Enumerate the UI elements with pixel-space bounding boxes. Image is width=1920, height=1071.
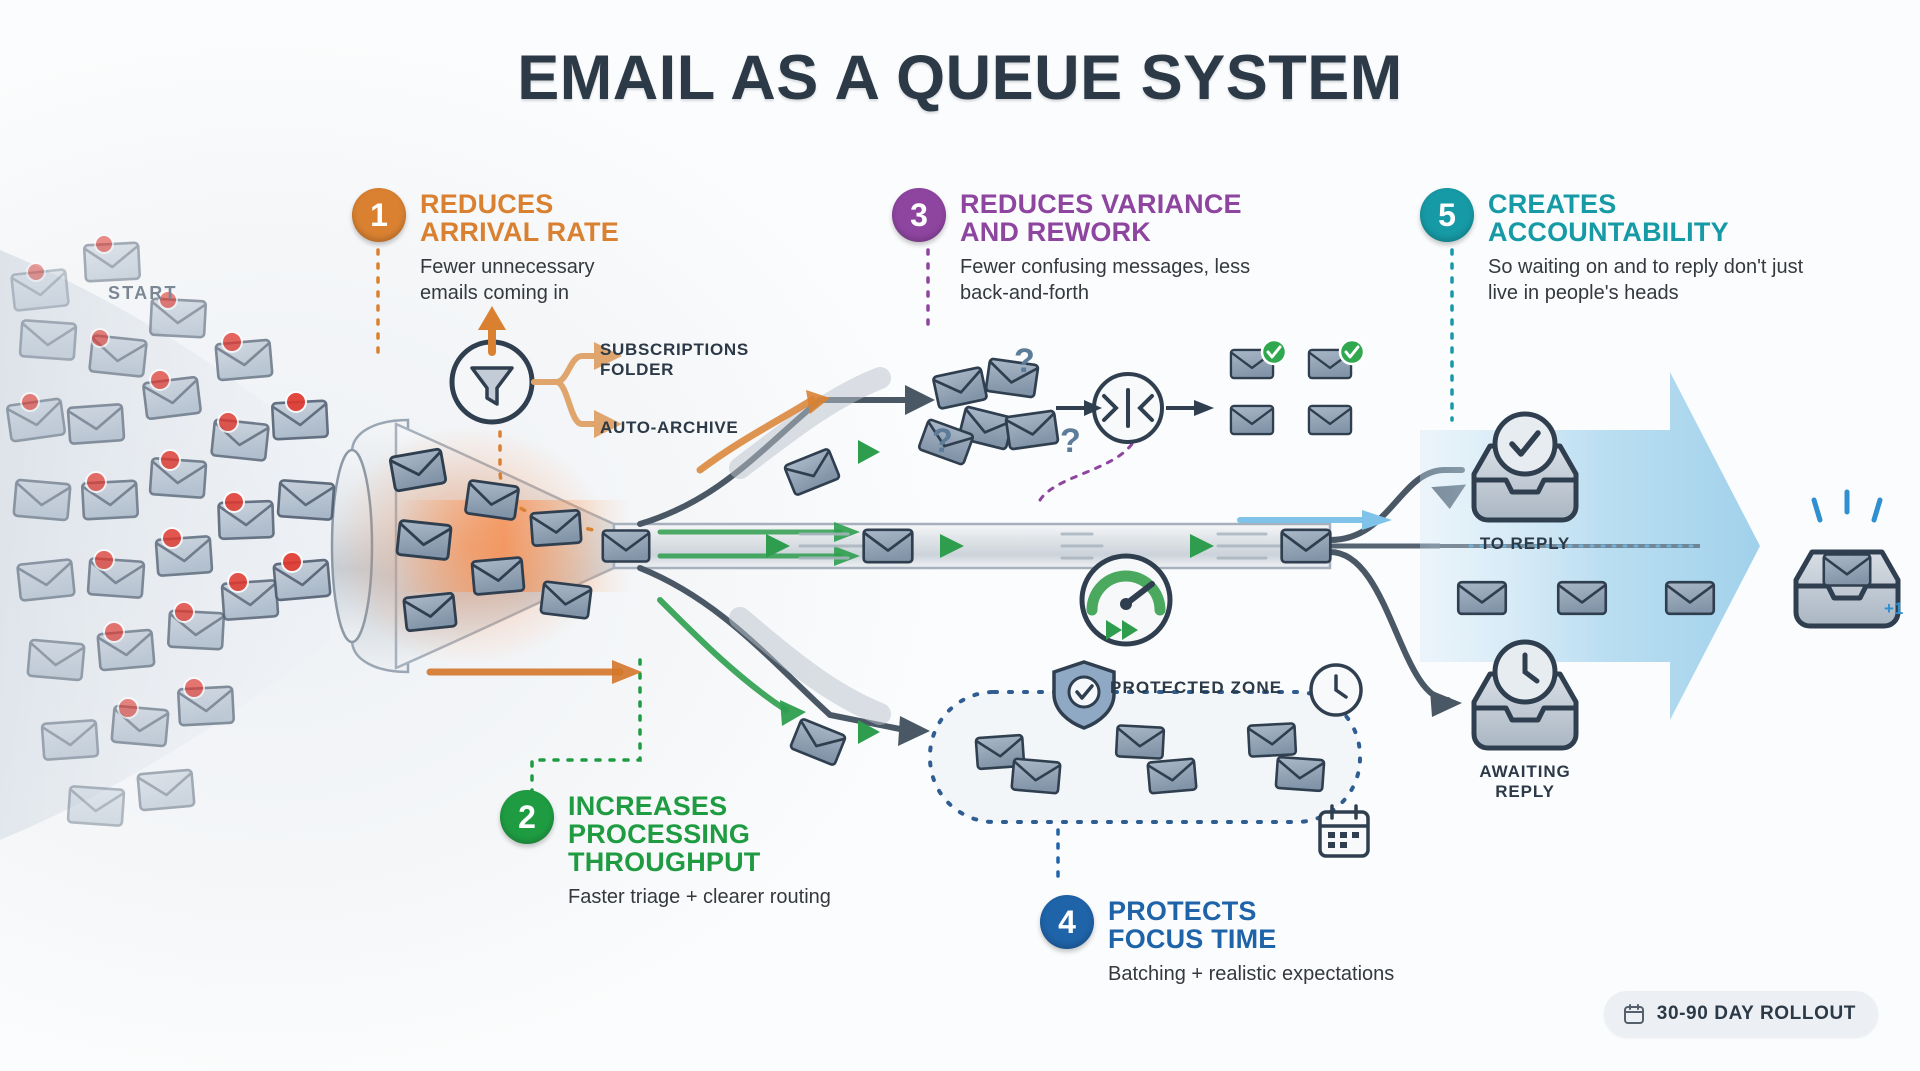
infographic-canvas: ? ? ? [0,0,1920,1071]
step-5: 5 CREATES ACCOUNTABILITY So waiting on a… [1420,188,1820,306]
step-3-badge: 3 [892,188,946,242]
svg-text:?: ? [1060,422,1081,460]
step-3-title: REDUCES VARIANCE AND REWORK [960,188,1242,246]
tray-label-to-reply: TO REPLY [1455,534,1595,554]
envelopes-layer: ? ? ? [0,0,1920,1071]
step-2-desc: Faster triage + clearer routing [500,885,860,911]
step-1-title-line-2: ARRIVAL RATE [420,218,619,246]
svg-text:+1: +1 [1884,599,1903,618]
step-3-title-line-2: AND REWORK [960,218,1242,246]
step-5-title-line-1: CREATES [1488,190,1729,218]
step-4-header: 4 PROTECTS FOCUS TIME [1040,895,1440,953]
filter-output-subscriptions: SUBSCRIPTIONS FOLDER [600,340,749,379]
start-label: START [108,283,178,304]
step-1-title: REDUCES ARRIVAL RATE [420,188,619,246]
step-5-title: CREATES ACCOUNTABILITY [1488,188,1729,246]
step-1-title-line-1: REDUCES [420,190,619,218]
step-4: 4 PROTECTS FOCUS TIME Batching + realist… [1040,895,1440,988]
step-4-desc: Batching + realistic expectations [1108,962,1448,988]
filter-output-subscriptions-line-1: SUBSCRIPTIONS [600,340,749,360]
tray-label-awaiting-reply-line-2: REPLY [1455,782,1595,802]
svg-text:?: ? [932,422,953,460]
step-5-badge: 5 [1420,188,1474,242]
step-5-title-line-2: ACCOUNTABILITY [1488,218,1729,246]
step-1: 1 REDUCES ARRIVAL RATE Fewer unnecessary… [352,188,682,306]
step-5-desc: So waiting on and to reply don't just li… [1488,255,1818,306]
rollout-badge-text: 30-90 DAY ROLLOUT [1657,1003,1856,1025]
step-1-desc: Fewer unnecessary emails coming in [420,255,650,306]
step-3-desc: Fewer confusing messages, less back-and-… [960,255,1260,306]
step-4-title-line-1: PROTECTS [1108,897,1277,925]
step-4-title: PROTECTS FOCUS TIME [1108,895,1277,953]
tray-label-awaiting-reply: AWAITING REPLY [1455,762,1595,803]
step-2-title: INCREASES PROCESSING THROUGHPUT [568,790,761,876]
step-4-badge: 4 [1040,895,1094,949]
svg-text:?: ? [1014,342,1035,380]
step-2: 2 INCREASES PROCESSING THROUGHPUT Faster… [500,790,880,911]
rollout-badge[interactable]: 30-90 DAY ROLLOUT [1604,991,1878,1037]
calendar-icon [1622,1002,1646,1026]
step-3: 3 REDUCES VARIANCE AND REWORK Fewer conf… [892,188,1272,306]
page-title: EMAIL AS A QUEUE SYSTEM [0,42,1920,114]
tray-label-awaiting-reply-line-1: AWAITING [1455,762,1595,782]
step-4-title-line-2: FOCUS TIME [1108,925,1277,953]
step-3-title-line-1: REDUCES VARIANCE [960,190,1242,218]
protected-zone-label: PROTECTED ZONE [1110,678,1282,698]
step-2-title-line-2: PROCESSING [568,820,761,848]
step-1-header: 1 REDUCES ARRIVAL RATE [352,188,682,246]
pipeline-illustration [0,0,1920,1071]
step-2-title-line-1: INCREASES [568,792,761,820]
filter-output-subscriptions-line-2: FOLDER [600,360,749,380]
step-2-title-line-3: THROUGHPUT [568,848,761,876]
step-2-badge: 2 [500,790,554,844]
step-2-header: 2 INCREASES PROCESSING THROUGHPUT [500,790,880,876]
filter-output-auto-archive: AUTO-ARCHIVE [600,418,738,438]
step-1-badge: 1 [352,188,406,242]
step-5-header: 5 CREATES ACCOUNTABILITY [1420,188,1820,246]
step-3-header: 3 REDUCES VARIANCE AND REWORK [892,188,1272,246]
